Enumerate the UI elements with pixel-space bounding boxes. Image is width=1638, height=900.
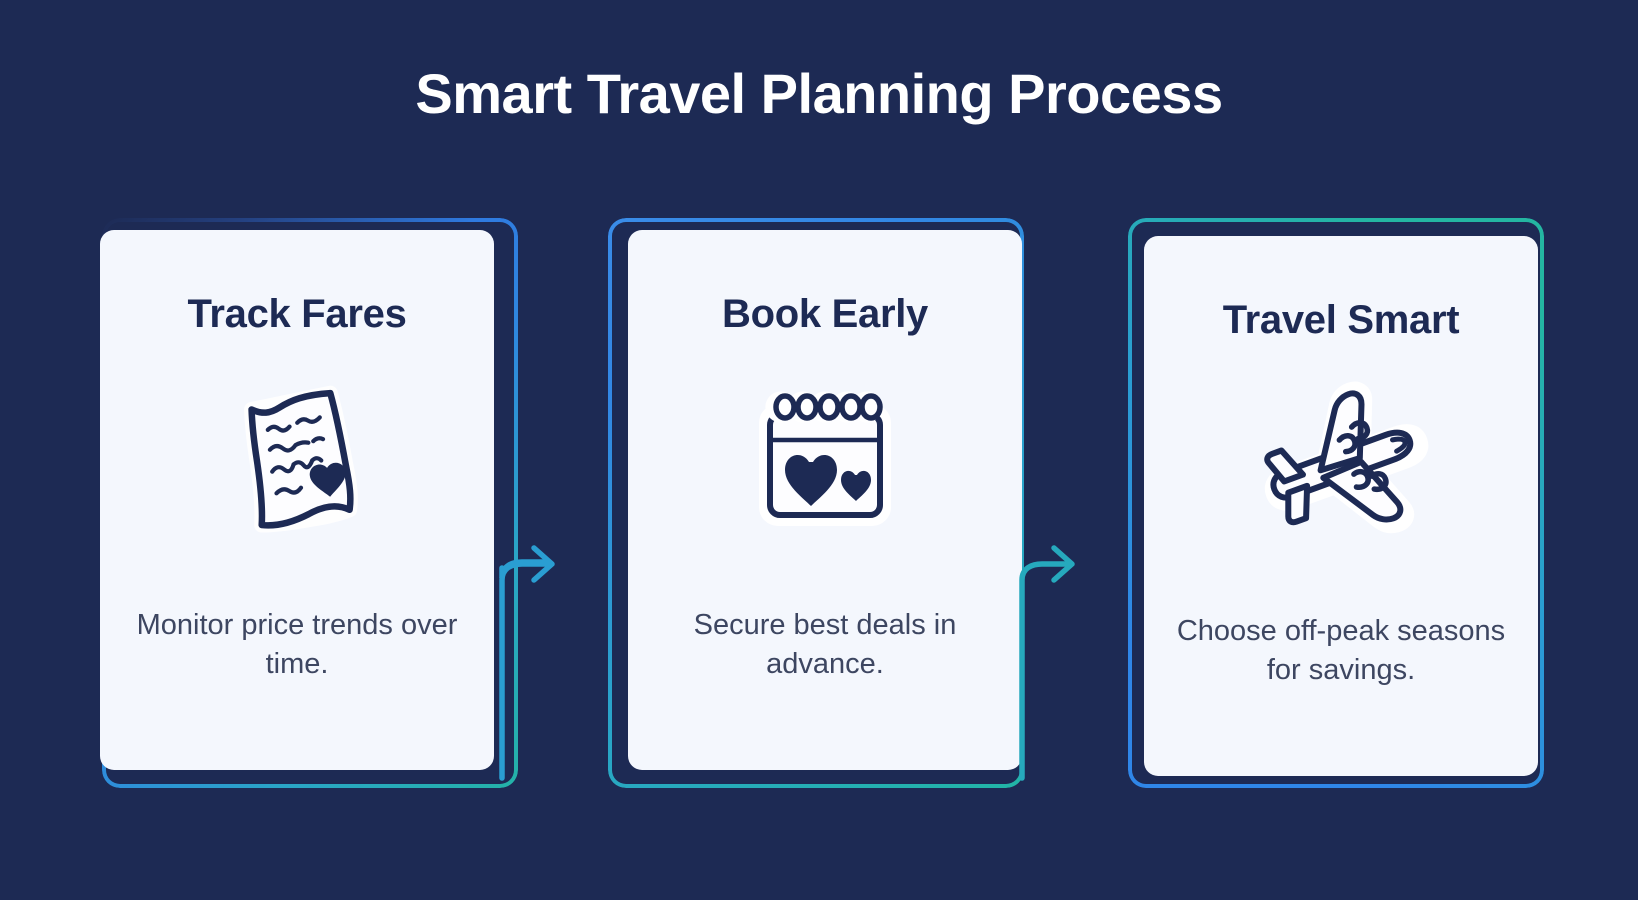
infographic-page: Smart Travel Planning Process Track Fare…: [0, 0, 1638, 900]
step-card-2-title: Book Early: [722, 292, 928, 336]
handwritten-note-icon: [202, 374, 392, 544]
step-card-1-body: Track Fares: [100, 230, 494, 770]
airplane-icon: [1246, 380, 1436, 550]
calendar-hearts-icon: [730, 374, 920, 544]
step-card-2-description: Secure best deals in advance.: [646, 606, 1004, 684]
step-card-2-body: Book Early: [628, 230, 1022, 770]
step-card-3-title: Travel Smart: [1223, 298, 1460, 342]
step-card-3-body: Travel Smart: [1144, 236, 1538, 776]
step-card-1-title: Track Fares: [187, 292, 406, 336]
step-card-2[interactable]: Book Early: [608, 218, 1040, 808]
step-card-3[interactable]: Travel Smart: [1128, 218, 1560, 808]
page-title: Smart Travel Planning Process: [0, 62, 1638, 126]
steps-row: Track Fares: [0, 218, 1638, 814]
step-card-1[interactable]: Track Fares: [88, 218, 520, 808]
step-card-3-description: Choose off-peak seasons for savings.: [1162, 612, 1520, 690]
step-card-1-description: Monitor price trends over time.: [118, 606, 476, 684]
